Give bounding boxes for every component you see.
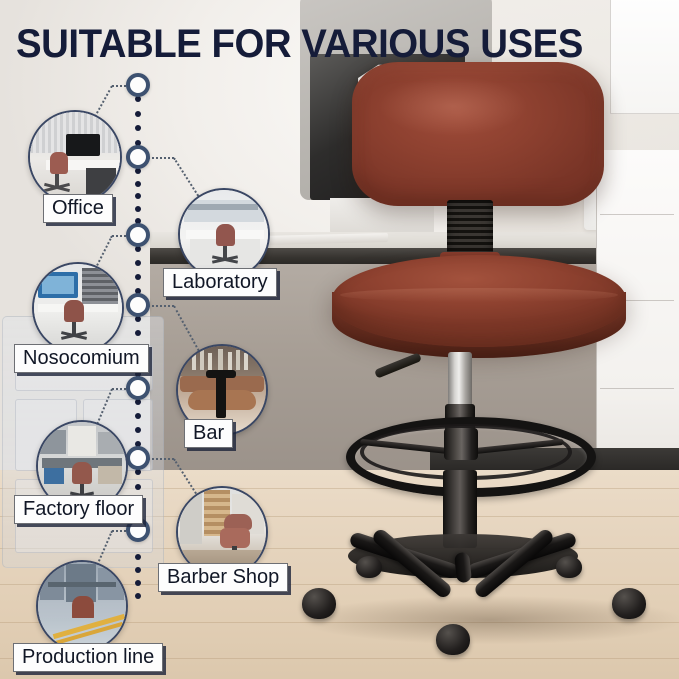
thumbnail-office[interactable] (28, 110, 122, 204)
thumbnail-production-line[interactable] (36, 560, 128, 652)
page-title: SUITABLE FOR VARIOUS USES (16, 22, 583, 67)
foot-ring-hub (444, 428, 478, 460)
label-barber-shop[interactable]: Barber Shop (158, 563, 288, 592)
gas-cylinder-upper (448, 352, 472, 410)
spring-connector (447, 200, 493, 254)
product-infographic: 1 (0, 0, 679, 679)
label-laboratory[interactable]: Laboratory (163, 268, 277, 297)
backrest-highlight (378, 76, 528, 136)
caster-wheel (356, 556, 382, 578)
label-production-line[interactable]: Production line (13, 643, 163, 672)
seat-rim-highlight (340, 288, 618, 302)
label-office[interactable]: Office (43, 194, 113, 223)
label-nosocomium[interactable]: Nosocomium (14, 344, 149, 373)
height-adjust-lever[interactable] (374, 352, 422, 378)
thumbnail-laboratory[interactable] (178, 188, 270, 280)
caster-wheel (556, 556, 582, 578)
caster-wheel (612, 588, 646, 619)
thumbnail-nosocomium[interactable] (32, 262, 124, 354)
caster-wheel (302, 588, 336, 619)
label-factory-floor[interactable]: Factory floor (14, 495, 143, 524)
caster-wheel (436, 624, 470, 655)
label-bar[interactable]: Bar (184, 419, 233, 448)
